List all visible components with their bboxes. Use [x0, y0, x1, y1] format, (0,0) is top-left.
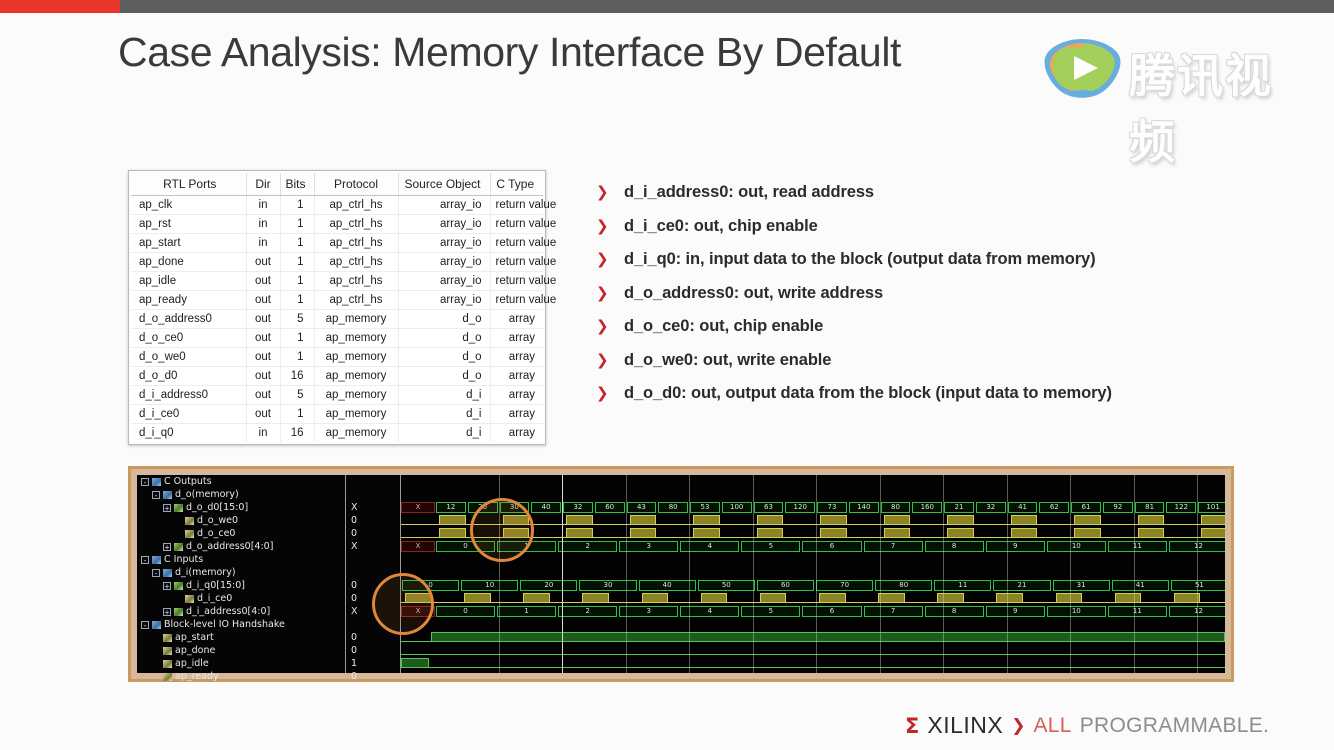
d_o_d0-segment: 61 [1071, 502, 1101, 513]
list-item: ❯d_o_we0: out, write enable [596, 351, 1216, 385]
group-icon [163, 569, 172, 577]
waveform-viewer: -C Outputs-d_o(memory)+d_o_d0[15:0]d_o_w… [128, 466, 1234, 682]
port-name-cell: ap_clk [131, 196, 246, 215]
port-dir-cell: out [246, 291, 280, 310]
signal-tree-row[interactable]: d_o_we0 [137, 514, 345, 527]
table-row[interactable]: ap_rstin1ap_ctrl_hsarray_ioreturn value [131, 215, 543, 234]
d_o_d0-segment: 53 [690, 502, 720, 513]
group-icon [152, 621, 161, 629]
port-name-cell: d_o_ce0 [131, 329, 246, 348]
d_o_d0-segment: 30 [500, 502, 530, 513]
list-item: ❯d_o_ce0: out, chip enable [596, 317, 1216, 351]
d_o_d0-segment: 41 [1008, 502, 1038, 513]
signal-name-label: Block-level IO Handshake [164, 619, 285, 630]
slide-root: Case Analysis: Memory Interface By Defau… [0, 0, 1334, 750]
chevron-right-icon: ❯ [596, 386, 609, 401]
signal-name-label: C Inputs [164, 554, 203, 565]
waveform-row [401, 488, 1225, 501]
waveform-row [401, 644, 1225, 657]
port-bits-cell: 5 [280, 386, 314, 405]
signal-name-label: d_i_ce0 [197, 593, 232, 604]
d_o_ce0-pulse [630, 528, 657, 538]
d_i_address0-segment: 1 [497, 606, 556, 617]
signal-tree-row[interactable]: ap_ready [137, 670, 345, 683]
port-dir-cell: out [246, 405, 280, 424]
signal-value-cell [346, 566, 400, 579]
d_i_address0-segment: 7 [864, 606, 923, 617]
d_o_ce0-pulse [884, 528, 911, 538]
list-item-label: d_o_address0: out, write address [624, 284, 883, 302]
signal-value-cell [346, 618, 400, 631]
d_i_q0-segment: 20 [520, 580, 577, 591]
signal-value-cell: 0 [346, 644, 400, 657]
page-title: Case Analysis: Memory Interface By Defau… [118, 29, 901, 76]
port-source-cell: array_io [398, 253, 490, 272]
d_i_q0-segment: 80 [875, 580, 932, 591]
d_o_d0-segment: 60 [595, 502, 625, 513]
signal-value-cell: X [346, 501, 400, 514]
column-header-protocol: Protocol [314, 173, 398, 196]
bit-icon [185, 517, 194, 525]
d_i_q0-segment: 11 [934, 580, 991, 591]
ap_done-low-level [401, 654, 1225, 655]
d_i_q0-segment: 70 [816, 580, 873, 591]
d_o_ce0-pulse [1074, 528, 1101, 538]
signal-name-label: ap_ready [175, 671, 219, 682]
d_o_ce0-pulse [566, 528, 593, 538]
port-protocol-cell: ap_memory [314, 367, 398, 386]
collapse-toggle-icon[interactable]: - [152, 491, 160, 499]
table-row[interactable]: ap_idleout1ap_ctrl_hsarray_ioreturn valu… [131, 272, 543, 291]
port-ctype-cell: array [490, 367, 543, 386]
port-protocol-cell: ap_ctrl_hs [314, 272, 398, 291]
list-item: ❯d_i_address0: out, read address [596, 183, 1216, 217]
chevron-right-icon: ❯ [596, 185, 609, 200]
tagline-rest: PROGRAMMABLE. [1080, 714, 1269, 738]
waveform-row: X0123456789101112 [401, 605, 1225, 618]
d_i_address0-segment: 9 [986, 606, 1045, 617]
d_o_d0-segment: 43 [627, 502, 657, 513]
d_i_ce0-pulse [819, 593, 846, 603]
bit-icon [163, 673, 172, 681]
waveform-row [401, 592, 1225, 605]
d_o_ce0-pulse [1138, 528, 1165, 538]
column-header-dir: Dir [246, 173, 280, 196]
signal-tree-row[interactable]: +d_o_address0[4:0] [137, 540, 345, 553]
d_o_d0-segment: 160 [912, 502, 942, 513]
column-header-c-type: C Type [490, 173, 543, 196]
d_o_d0-segment: 81 [1135, 502, 1165, 513]
bus-icon [174, 504, 183, 512]
port-ctype-cell: array [490, 348, 543, 367]
port-source-cell: array_io [398, 215, 490, 234]
port-protocol-cell: ap_ctrl_hs [314, 234, 398, 253]
port-ctype-cell: array [490, 329, 543, 348]
waveform-row [401, 631, 1225, 644]
ap_idle-high-level [401, 658, 429, 668]
port-ctype-cell: return value [490, 234, 543, 253]
bit-icon [163, 634, 172, 642]
signal-name-label: d_o(memory) [175, 489, 239, 500]
bit-icon [163, 647, 172, 655]
d_i_q0-segment: 40 [639, 580, 696, 591]
d_o_we0-pulse [820, 515, 847, 525]
port-dir-cell: out [246, 386, 280, 405]
d_i_ce0-pulse [760, 593, 787, 603]
d_o_we0-pulse [630, 515, 657, 525]
table-row[interactable]: d_o_d0out16ap_memoryd_oarray [131, 367, 543, 386]
port-source-cell: array_io [398, 234, 490, 253]
list-item-label: d_i_q0: in, input data to the block (out… [624, 250, 1096, 268]
d_o_ce0-pulse [1011, 528, 1038, 538]
port-ctype-cell: return value [490, 291, 543, 310]
signal-value-pane: X00X00X0010 [345, 475, 401, 673]
port-ctype-cell: return value [490, 272, 543, 291]
d_o_address0-segment: 8 [925, 541, 984, 552]
table-row[interactable]: d_o_address0out5ap_memoryd_oarray [131, 310, 543, 329]
d_o_d0-segment: 12 [436, 502, 466, 513]
d_i_address0-unknown-segment: X [401, 606, 435, 617]
d_i_q0-segment: 21 [993, 580, 1050, 591]
waveform-canvas[interactable]: X122030403260438053100631207314080160213… [401, 475, 1225, 673]
d_o_we0-pulse [566, 515, 593, 525]
port-name-cell: d_o_address0 [131, 310, 246, 329]
d_o_d0-segment: 40 [531, 502, 561, 513]
port-bits-cell: 1 [280, 348, 314, 367]
chevron-right-icon: ❯ [596, 319, 609, 334]
port-protocol-cell: ap_ctrl_hs [314, 196, 398, 215]
bit-icon [185, 595, 194, 603]
d_o_we0-pulse [693, 515, 720, 525]
port-dir-cell: out [246, 348, 280, 367]
port-name-cell: ap_ready [131, 291, 246, 310]
d_o_ce0-pulse [693, 528, 720, 538]
port-dir-cell: in [246, 215, 280, 234]
d_i_ce0-pulse [701, 593, 728, 603]
d_o_ce0-pulse [439, 528, 466, 538]
d_i_q0-segment: 50 [698, 580, 755, 591]
d_o_address0-segment: 10 [1047, 541, 1106, 552]
waveform-row [401, 514, 1225, 527]
d_o_address0-segment: 1 [497, 541, 556, 552]
d_i_ce0-pulse [582, 593, 609, 603]
d_i_ce0-pulse [996, 593, 1023, 603]
d_i_q0-segment: 60 [757, 580, 814, 591]
d_o_d0-segment: 20 [468, 502, 498, 513]
column-header-source-object: Source Object [398, 173, 490, 196]
signal-tree-row[interactable]: -Block-level IO Handshake [137, 618, 345, 631]
ap_idle-low-level [429, 667, 1225, 668]
d_o_address0-segment: 2 [558, 541, 617, 552]
d_o_address0-segment: 0 [436, 541, 495, 552]
d_i_ce0-pulse [878, 593, 905, 603]
signal-value-cell: 0 [346, 670, 400, 683]
signal-name-label: ap_done [175, 645, 215, 656]
expand-toggle-icon[interactable]: + [163, 608, 171, 616]
d_i_q0-segment: 41 [1112, 580, 1169, 591]
d_o_d0-segment: 73 [817, 502, 847, 513]
waveform-row [401, 618, 1225, 631]
d_i_address0-segment: 10 [1047, 606, 1106, 617]
bus-icon [174, 543, 183, 551]
group-icon [163, 491, 172, 499]
ap_start-high-level [431, 632, 1225, 642]
expand-toggle-icon[interactable]: + [163, 504, 171, 512]
port-protocol-cell: ap_ctrl_hs [314, 215, 398, 234]
d_o_d0-segment: 62 [1039, 502, 1069, 513]
d_o_ce0-pulse [820, 528, 847, 538]
waveform-row [401, 527, 1225, 540]
port-name-cell: d_o_d0 [131, 367, 246, 386]
signal-tree-row[interactable]: +d_o_d0[15:0] [137, 501, 345, 514]
rtl-ports-table: RTL Ports Dir Bits Protocol Source Objec… [128, 170, 546, 445]
signal-value-cell: 0 [346, 527, 400, 540]
port-bits-cell: 1 [280, 291, 314, 310]
d_i_address0-segment: 5 [741, 606, 800, 617]
signal-value-cell: X [346, 605, 400, 618]
d_i_address0-segment: 4 [680, 606, 739, 617]
expand-toggle-icon[interactable]: + [163, 543, 171, 551]
table-row[interactable]: ap_clkin1ap_ctrl_hsarray_ioreturn value [131, 196, 543, 215]
d_i_ce0-pulse [1115, 593, 1142, 603]
port-bits-cell: 1 [280, 272, 314, 291]
d_i_address0-segment: 3 [619, 606, 678, 617]
port-dir-cell: out [246, 253, 280, 272]
d_o_d0-segment: 80 [658, 502, 688, 513]
d_i_q0-segment: 30 [579, 580, 636, 591]
port-source-cell: d_o [398, 329, 490, 348]
table-row[interactable]: d_o_we0out1ap_memoryd_oarray [131, 348, 543, 367]
signal-tree-row[interactable]: -d_o(memory) [137, 488, 345, 501]
signal-name-label: d_o_ce0 [197, 528, 235, 539]
d_i_q0-segment: 31 [1053, 580, 1110, 591]
port-bits-cell: 1 [280, 196, 314, 215]
signal-tree-row[interactable]: ap_idle [137, 657, 345, 670]
table-row[interactable]: ap_startin1ap_ctrl_hsarray_ioreturn valu… [131, 234, 543, 253]
port-name-cell: d_i_address0 [131, 386, 246, 405]
port-dir-cell: out [246, 310, 280, 329]
port-source-cell: d_i [398, 424, 490, 443]
d_o_we0-pulse [1201, 515, 1225, 525]
signal-value-cell: 0 [346, 579, 400, 592]
d_o_address0-segment: 5 [741, 541, 800, 552]
d_o_we0-pulse [503, 515, 530, 525]
d_o_address0-segment: 7 [864, 541, 923, 552]
signal-name-label: d_o_address0[4:0] [186, 541, 273, 552]
port-protocol-cell: ap_memory [314, 348, 398, 367]
collapse-toggle-icon[interactable]: - [141, 621, 149, 629]
signal-value-cell: X [346, 540, 400, 553]
d_o_d0-segment: 21 [944, 502, 974, 513]
expand-toggle-icon[interactable]: + [163, 582, 171, 590]
port-ctype-cell: return value [490, 253, 543, 272]
d_i_address0-segment: 0 [436, 606, 495, 617]
port-name-cell: ap_idle [131, 272, 246, 291]
d_i_address0-segment: 2 [558, 606, 617, 617]
signal-value-cell: 0 [346, 631, 400, 644]
waveform-row: X0123456789101112 [401, 540, 1225, 553]
collapse-toggle-icon[interactable]: - [152, 569, 160, 577]
port-bits-cell: 1 [280, 253, 314, 272]
table-row[interactable]: ap_doneout1ap_ctrl_hsarray_ioreturn valu… [131, 253, 543, 272]
d_i_q0-segment: 51 [1171, 580, 1225, 591]
video-progress-fill[interactable] [0, 0, 120, 13]
waveform-row: 010203040506070801121314151 [401, 579, 1225, 592]
d_o_we0-pulse [1138, 515, 1165, 525]
chevron-right-icon: ❯ [596, 353, 609, 368]
d_o_d0-segment: 101 [1198, 502, 1225, 513]
d_o_we0-pulse [1011, 515, 1038, 525]
signal-tree-row[interactable]: ap_done [137, 644, 345, 657]
port-source-cell: array_io [398, 196, 490, 215]
d_o_d0-segment: 32 [563, 502, 593, 513]
port-bits-cell: 16 [280, 424, 314, 443]
tagline-accent: ALL [1033, 714, 1071, 738]
port-source-cell: d_o [398, 367, 490, 386]
port-dir-cell: in [246, 196, 280, 215]
waveform-row [401, 475, 1225, 488]
d_o_we0-pulse [757, 515, 784, 525]
port-name-cell: d_i_ce0 [131, 405, 246, 424]
port-bits-cell: 1 [280, 405, 314, 424]
table-row[interactable]: d_i_ce0out1ap_memoryd_iarray [131, 405, 543, 424]
d_o_we0-pulse [884, 515, 911, 525]
signal-tree-pane[interactable]: -C Outputs-d_o(memory)+d_o_d0[15:0]d_o_w… [137, 475, 345, 673]
waveform-row [401, 553, 1225, 566]
signal-tree-row[interactable]: -C Outputs [137, 475, 345, 488]
d_i_ce0-pulse [642, 593, 669, 603]
d_o_address0-segment: 4 [680, 541, 739, 552]
signal-value-cell: 0 [346, 514, 400, 527]
chevron-right-icon: ❯ [1011, 716, 1025, 736]
d_o_address0-segment: 3 [619, 541, 678, 552]
waveform-row [401, 657, 1225, 670]
d_o_d0-segment: 140 [849, 502, 879, 513]
signal-tree-row[interactable]: +d_i_q0[15:0] [137, 579, 345, 592]
xilinx-footer: Σ XILINX ❯ ALL PROGRAMMABLE. [905, 712, 1269, 739]
d_i_address0-segment: 8 [925, 606, 984, 617]
port-bits-cell: 1 [280, 234, 314, 253]
port-bits-cell: 1 [280, 329, 314, 348]
d_o_address0-segment: 12 [1169, 541, 1225, 552]
signal-tree-row[interactable]: d_i_ce0 [137, 592, 345, 605]
port-dir-cell: out [246, 329, 280, 348]
signal-value-cell [346, 553, 400, 566]
video-progress-track[interactable] [0, 0, 1334, 13]
signal-name-label: d_i_q0[15:0] [186, 580, 245, 591]
port-protocol-cell: ap_ctrl_hs [314, 253, 398, 272]
d_o_d0-segment: 122 [1166, 502, 1196, 513]
d_o_address0-segment: 9 [986, 541, 1045, 552]
signal-tree-row[interactable]: d_o_ce0 [137, 527, 345, 540]
signal-name-label: d_o_d0[15:0] [186, 502, 248, 513]
port-source-cell: array_io [398, 272, 490, 291]
signal-value-cell [346, 475, 400, 488]
signal-name-label: ap_idle [175, 658, 209, 669]
port-dir-cell: out [246, 272, 280, 291]
signal-tree-row[interactable]: +d_i_address0[4:0] [137, 605, 345, 618]
tencent-video-play-logo [1041, 36, 1123, 100]
list-item: ❯d_o_address0: out, write address [596, 284, 1216, 318]
list-item-label: d_o_d0: out, output data from the block … [624, 384, 1112, 402]
signal-value-cell: 1 [346, 657, 400, 670]
port-bits-cell: 1 [280, 215, 314, 234]
chevron-right-icon: ❯ [596, 252, 609, 267]
tencent-brand-text: 腾讯视频 [1129, 40, 1303, 172]
d_o_d0-unknown-segment: X [401, 502, 435, 513]
d_i_address0-segment: 12 [1169, 606, 1225, 617]
d_i_ce0-pulse [1174, 593, 1201, 603]
d_o_we0-pulse [1074, 515, 1101, 525]
port-ctype-cell: array [490, 310, 543, 329]
signal-name-label: d_i_address0[4:0] [186, 606, 270, 617]
d_i_ce0-pulse [937, 593, 964, 603]
list-item-label: d_o_ce0: out, chip enable [624, 317, 823, 335]
table-row[interactable]: d_i_address0out5ap_memoryd_iarray [131, 386, 543, 405]
waveform-row [401, 670, 1225, 673]
port-protocol-cell: ap_memory [314, 424, 398, 443]
d_o_d0-segment: 63 [754, 502, 784, 513]
waveform-row: X122030403260438053100631207314080160213… [401, 501, 1225, 514]
tencent-video-watermark: 腾讯视频 [1041, 34, 1303, 102]
group-icon [152, 556, 161, 564]
bit-icon [185, 530, 194, 538]
column-header-bits: Bits [280, 173, 314, 196]
table-row[interactable]: d_o_ce0out1ap_memoryd_oarray [131, 329, 543, 348]
chevron-right-icon: ❯ [596, 286, 609, 301]
d_i_ce0-pulse [1056, 593, 1083, 603]
port-dir-cell: in [246, 424, 280, 443]
collapse-toggle-icon[interactable]: - [141, 556, 149, 564]
signal-tree-row[interactable]: -d_i(memory) [137, 566, 345, 579]
port-dir-cell: out [246, 367, 280, 386]
d_o_address0-segment: 6 [802, 541, 861, 552]
port-ctype-cell: return value [490, 196, 543, 215]
signal-tree-row[interactable]: -C Inputs [137, 553, 345, 566]
signal-tree-row[interactable]: ap_start [137, 631, 345, 644]
port-protocol-cell: ap_memory [314, 310, 398, 329]
d_o_d0-segment: 80 [881, 502, 911, 513]
d_o_ce0-pulse [503, 528, 530, 538]
port-description-list: ❯d_i_address0: out, read address❯d_i_ce0… [596, 183, 1216, 418]
port-ctype-cell: array [490, 405, 543, 424]
table-header-row: RTL Ports Dir Bits Protocol Source Objec… [131, 173, 543, 196]
collapse-toggle-icon[interactable]: - [141, 478, 149, 486]
d_o_ce0-pulse [947, 528, 974, 538]
bit-icon [163, 660, 172, 668]
d_o_ce0-pulse [757, 528, 784, 538]
ap_start-low-level [401, 641, 431, 642]
column-header-rtl-ports: RTL Ports [131, 173, 246, 196]
d_o_d0-segment: 120 [785, 502, 815, 513]
port-bits-cell: 5 [280, 310, 314, 329]
port-source-cell: d_o [398, 348, 490, 367]
d_o_d0-segment: 32 [976, 502, 1006, 513]
signal-name-label: d_o_we0 [197, 515, 238, 526]
port-dir-cell: in [246, 234, 280, 253]
list-item: ❯d_i_ce0: out, chip enable [596, 217, 1216, 251]
table-row[interactable]: d_i_q0in16ap_memoryd_iarray [131, 424, 543, 443]
d_i_q0-segment: 10 [461, 580, 518, 591]
d_i_address0-segment: 11 [1108, 606, 1167, 617]
xilinx-brand-name: XILINX [927, 712, 1003, 739]
waveform-row [401, 566, 1225, 579]
table-row[interactable]: ap_readyout1ap_ctrl_hsarray_ioreturn val… [131, 291, 543, 310]
port-source-cell: d_i [398, 405, 490, 424]
port-name-cell: ap_start [131, 234, 246, 253]
port-protocol-cell: ap_memory [314, 329, 398, 348]
bus-icon [174, 582, 183, 590]
